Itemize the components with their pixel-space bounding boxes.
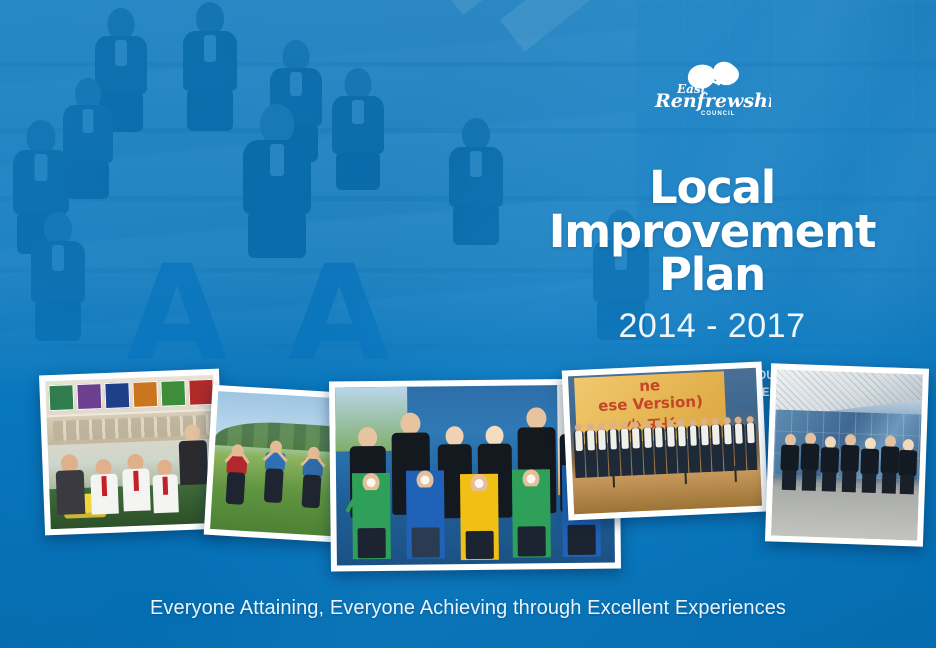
svg-text:COUNCIL: COUNCIL <box>701 111 735 117</box>
page-title: Local Improvement Plan <box>522 166 902 297</box>
east-renfrewshire-council-logo: East Renfrewshire COUNCIL <box>522 60 902 120</box>
choir-row <box>570 423 760 478</box>
photo-school-visit <box>765 363 929 546</box>
plan-period: 2014 - 2017 <box>522 307 902 346</box>
publication-cover: A A East Renfrewshire COUNCIL Local <box>0 0 936 648</box>
tagline: Everyone Attaining, Everyone Achieving t… <box>0 597 936 620</box>
svg-text:Renfrewshire: Renfrewshire <box>654 90 771 112</box>
title-line-1: Local <box>522 166 902 210</box>
photo-science-classroom <box>39 369 225 536</box>
photo-strip: ne ese Version) 少 天长 <box>0 360 936 590</box>
photo-chinese-concert: ne ese Version) 少 天长 <box>562 362 769 521</box>
title-line-2: Improvement <box>522 210 902 254</box>
title-block: East Renfrewshire COUNCIL Local Improvem… <box>522 60 902 401</box>
title-line-3: Plan <box>522 253 902 297</box>
